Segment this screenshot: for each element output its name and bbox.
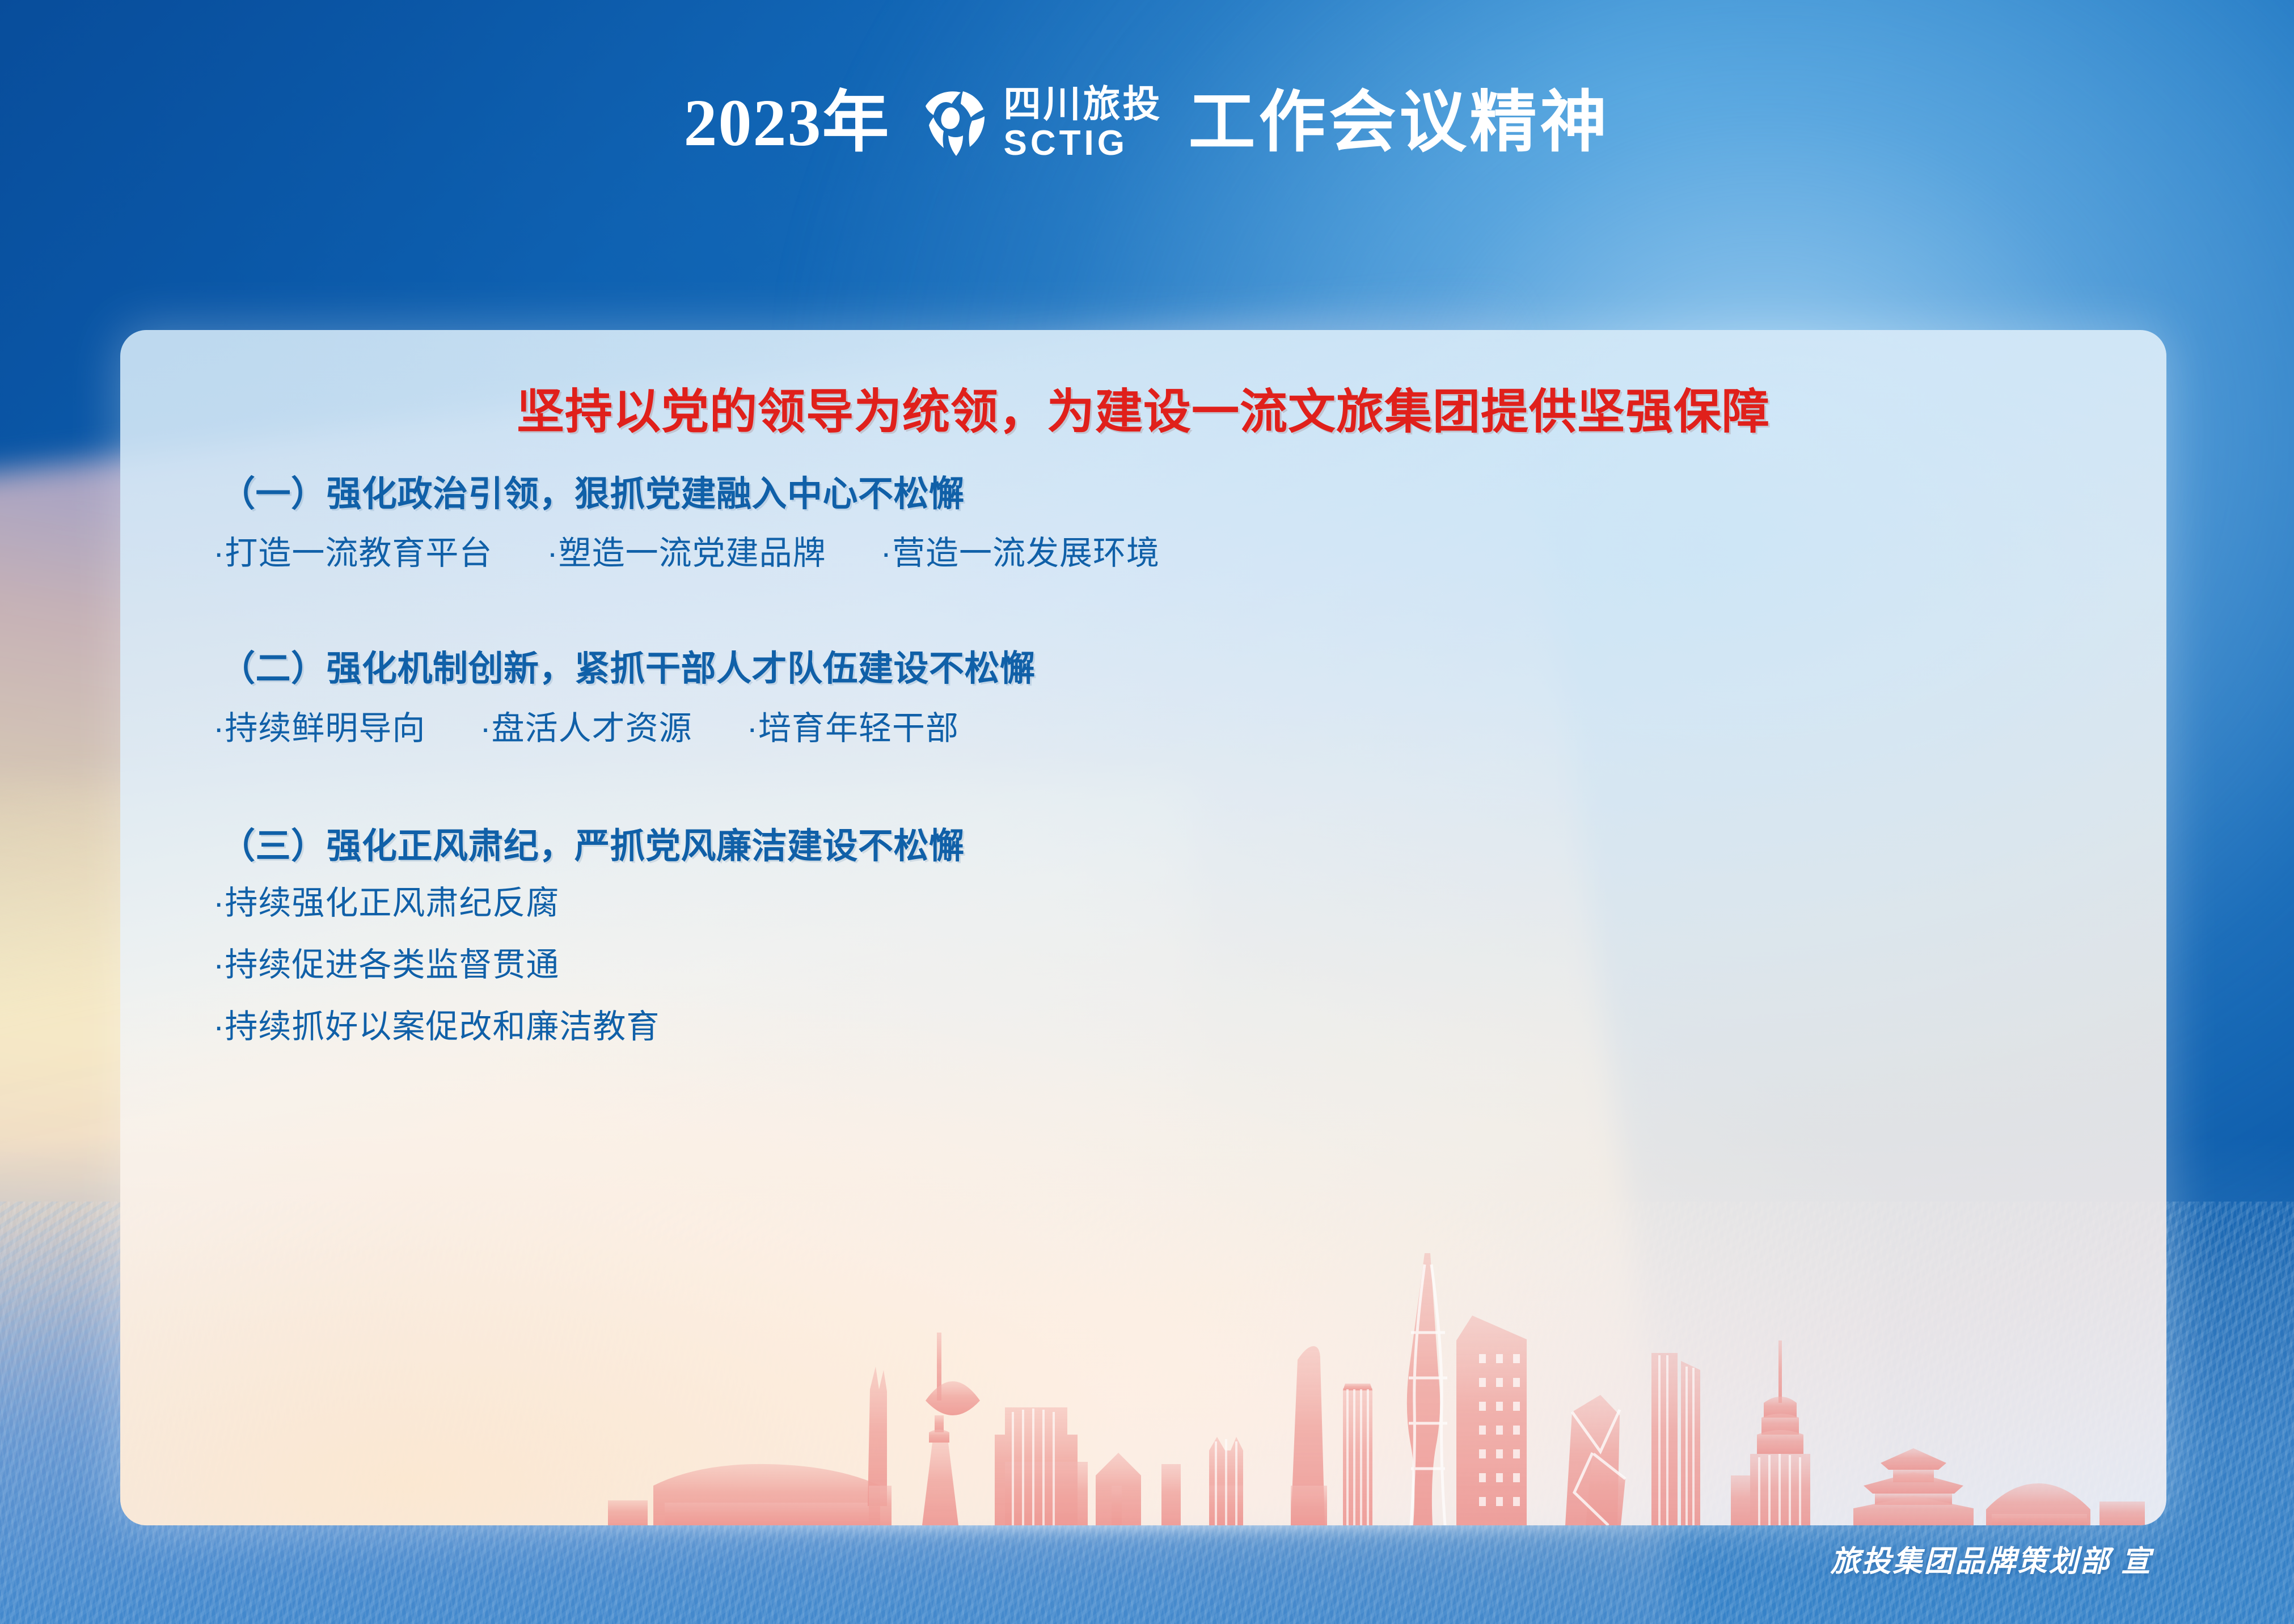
section-one: （一）强化政治引领，狠抓党建融入中心不松懈 ·打造一流教育平台 ·塑造一流党建品… [188,472,2098,578]
bullet-item: ·培育年轻干部 [747,704,959,753]
logo-chinese-name: 四川旅投 [1004,85,1163,122]
bullet-item: ·持续鲜明导向 [213,704,425,753]
section-two-bullets: ·持续鲜明导向 ·盘活人才资源 ·培育年轻干部 [188,704,2098,753]
section-one-title: （一）强化政治引领，狠抓党建融入中心不松懈 [188,472,2098,517]
section-three: （三）强化正风肃纪，严抓党风廉洁建设不松懈 ·持续强化正风肃纪反腐 ·持续促进各… [188,824,2098,1052]
bullet-item: ·塑造一流党建品牌 [547,528,826,578]
section-two-title: （二）强化机制创新，紧抓干部人才队伍建设不松懈 [188,647,2098,691]
footer-credit: 旅投集团品牌策划部 宣 [1831,1537,2152,1580]
section-one-bullets: ·打造一流教育平台 ·塑造一流党建品牌 ·营造一流发展环境 [188,528,2098,578]
card-warm-tint [120,975,1716,1525]
logo-english-name: SCTIG [1004,126,1128,161]
bullet-item: ·打造一流教育平台 [213,528,492,578]
section-three-title: （三）强化正风肃纪，严抓党风廉洁建设不松懈 [188,824,2098,869]
bullet-item: ·营造一流发展环境 [881,528,1160,578]
bullet-item: ·持续抓好以案促改和廉洁教育 [213,1002,2098,1051]
poster-canvas: 2023年 四川旅投 SCTIG 工作会议精 [0,0,2294,1624]
globe-icon [916,87,989,159]
bullet-item: ·持续促进各类监督贯通 [213,940,2098,989]
company-logo: 四川旅投 SCTIG [916,85,1163,161]
header-title: 工作会议精神 [1189,90,1611,157]
section-three-bullets: ·持续强化正风肃纪反腐 ·持续促进各类监督贯通 ·持续抓好以案促改和廉洁教育 [188,878,2098,1051]
card-content: 坚持以党的领导为统领，为建设一流文旅集团提供坚强保障 （一）强化政治引领，狠抓党… [120,330,2166,1051]
logo-wordmark: 四川旅投 SCTIG [1004,85,1163,161]
poster-header: 2023年 四川旅投 SCTIG 工作会议精 [0,85,2294,161]
headline: 坚持以党的领导为统领，为建设一流文旅集团提供坚强保障 [188,384,2098,439]
section-two: （二）强化机制创新，紧抓干部人才队伍建设不松懈 ·持续鲜明导向 ·盘活人才资源 … [188,647,2098,753]
bullet-item: ·盘活人才资源 [480,704,692,753]
header-year: 2023年 [683,90,890,157]
content-card: 坚持以党的领导为统领，为建设一流文旅集团提供坚强保障 （一）强化政治引领，狠抓党… [120,330,2166,1525]
bullet-item: ·持续强化正风肃纪反腐 [213,878,2098,928]
